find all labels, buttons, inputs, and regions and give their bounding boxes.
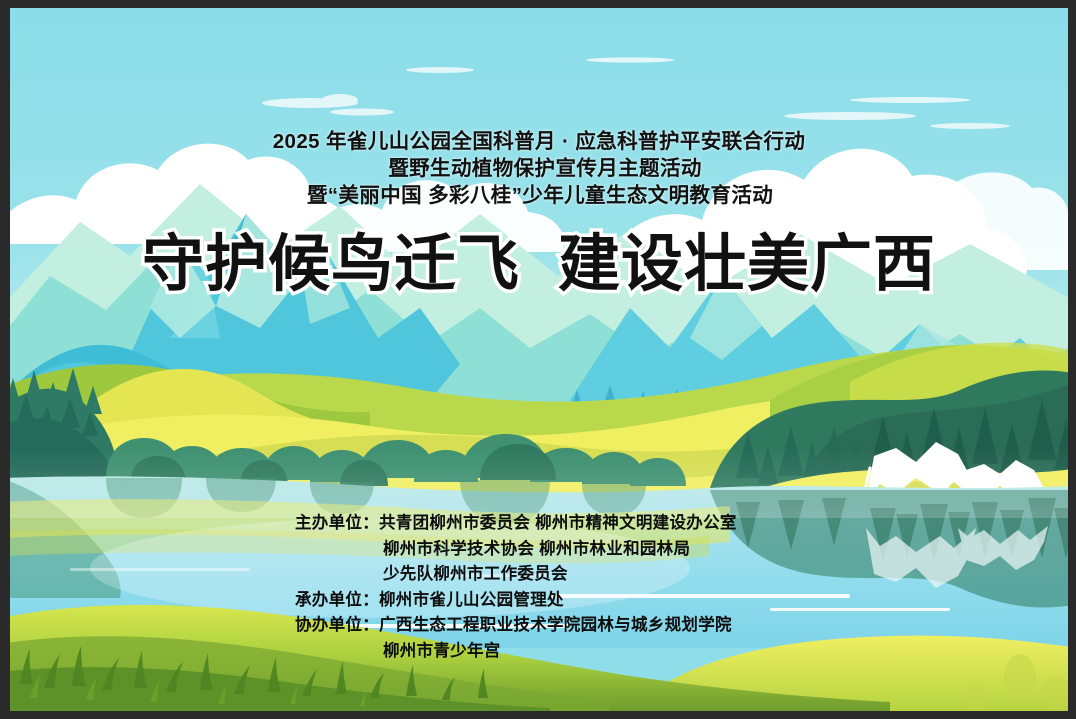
credits-block: 主办单位：共青团柳州市委员会 柳州市精神文明建设办公室柳州市科学技术协会 柳州市… (295, 511, 855, 664)
credit-value: 共青团柳州市委员会 柳州市精神文明建设办公室 (379, 514, 737, 532)
credit-row: 少先队柳州市工作委员会 (295, 562, 855, 588)
credit-value: 柳州市科学技术协会 柳州市林业和园林局 (383, 540, 690, 558)
credit-value: 柳州市雀儿山公园管理处 (379, 591, 564, 609)
main-title: 守护候鸟迁飞建设壮美广西 (10, 230, 1068, 299)
main-title-right: 建设壮美广西 (558, 230, 936, 299)
credit-label: 主办单位： (295, 511, 379, 537)
headline-line-1: 2025 年雀儿山公园全国科普月 · 应急科普护平安联合行动 (10, 128, 1068, 155)
headline-line-3: 暨“美丽中国 多彩八桂”少年儿童生态文明教育活动 (10, 182, 1068, 209)
credit-row: 柳州市科学技术协会 柳州市林业和园林局 (295, 537, 855, 563)
headline-line-2: 暨野生动植物保护宣传月主题活动 (10, 155, 1068, 182)
credit-label: 协办单位： (295, 613, 379, 639)
credit-row: 主办单位：共青团柳州市委员会 柳州市精神文明建设办公室 (295, 511, 855, 537)
credit-value: 少先队柳州市工作委员会 (383, 565, 568, 583)
poster-frame: 2025 年雀儿山公园全国科普月 · 应急科普护平安联合行动 暨野生动植物保护宣… (0, 0, 1076, 719)
credit-row: 协办单位：广西生态工程职业技术学院园林与城乡规划学院 (295, 613, 855, 639)
credit-row: 承办单位：柳州市雀儿山公园管理处 (295, 588, 855, 614)
credit-row: 柳州市青少年宫 (295, 639, 855, 665)
credit-label: 承办单位： (295, 588, 379, 614)
main-title-left: 守护候鸟迁飞 (142, 230, 520, 299)
credit-value: 广西生态工程职业技术学院园林与城乡规划学院 (379, 616, 732, 634)
poster-canvas: 2025 年雀儿山公园全国科普月 · 应急科普护平安联合行动 暨野生动植物保护宣… (10, 8, 1068, 711)
credit-value: 柳州市青少年宫 (383, 642, 501, 660)
headline-block: 2025 年雀儿山公园全国科普月 · 应急科普护平安联合行动 暨野生动植物保护宣… (10, 128, 1068, 209)
